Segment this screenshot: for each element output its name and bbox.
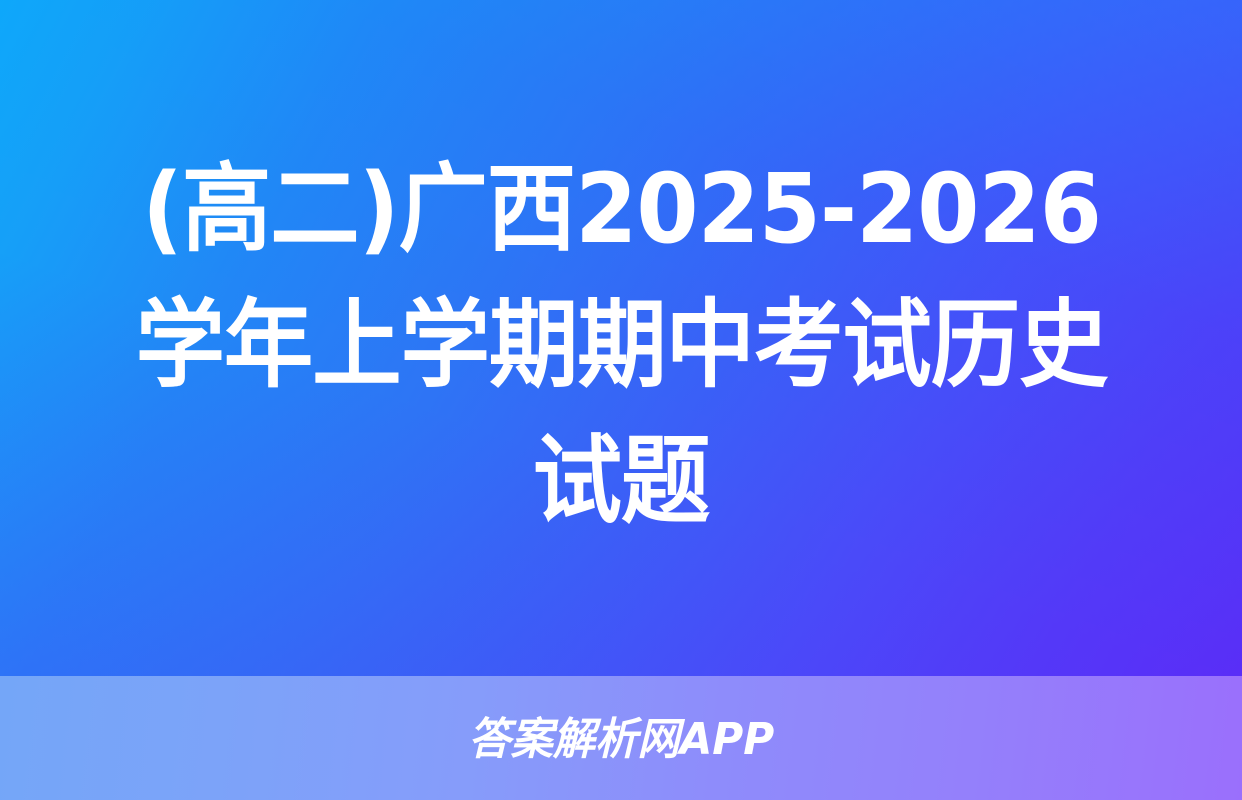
title-line-2: 学年上学期期中考试历史 (135, 277, 1107, 413)
footer-brand-band: 答案解析网APP (0, 676, 1242, 800)
footer-brand-text: 答案解析网APP (468, 716, 774, 764)
title-line-1: (高二)广西2025-2026 (142, 141, 1101, 277)
title-line-3: 试题 (533, 413, 710, 549)
page-title: (高二)广西2025-2026 学年上学期期中考试历史 试题 (0, 0, 1242, 676)
exam-cover-page: (高二)广西2025-2026 学年上学期期中考试历史 试题 答案解析网APP (0, 0, 1242, 800)
